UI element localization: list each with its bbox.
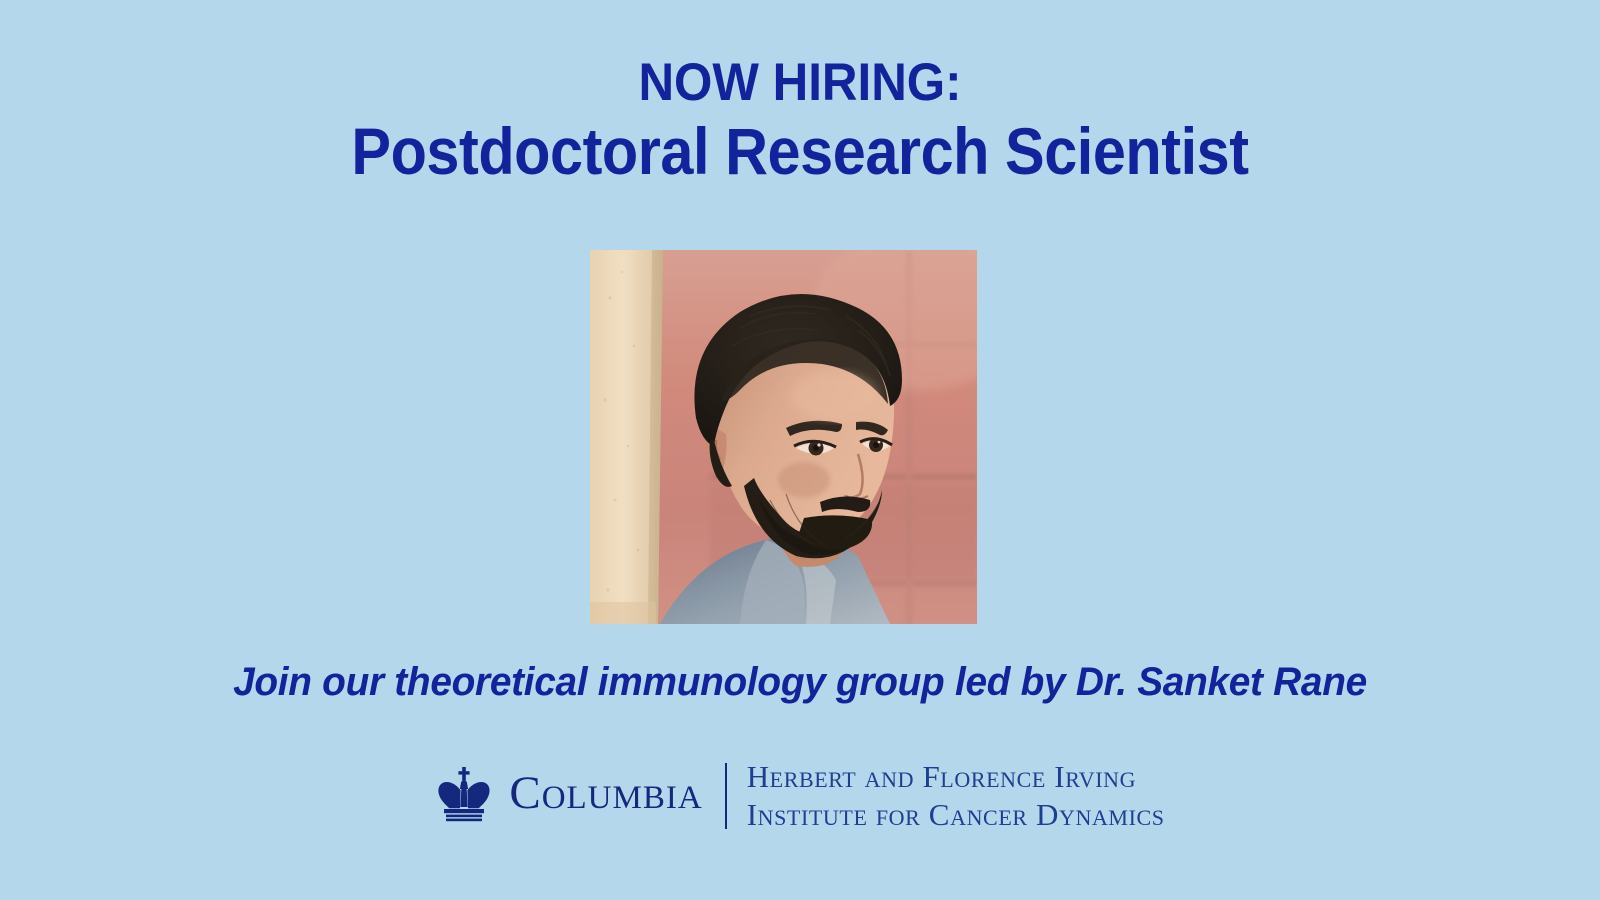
subtitle: Join our theoretical immunology group le… <box>24 660 1576 705</box>
institute-name-line-1: Herbert and Florence Irving <box>747 758 1165 796</box>
columbia-wordmark: Columbia <box>509 770 702 821</box>
portrait-photo-image <box>590 250 977 624</box>
headline-line-2: Postdoctoral Research Scientist <box>80 117 1520 187</box>
logo-divider <box>725 763 727 829</box>
portrait-photo <box>590 250 977 624</box>
columbia-crown-icon <box>435 765 493 827</box>
institute-name: Herbert and Florence Irving Institute fo… <box>747 758 1165 834</box>
page-title: NOW HIRING: Postdoctoral Research Scient… <box>0 55 1600 187</box>
job-posting-poster: NOW HIRING: Postdoctoral Research Scient… <box>0 0 1600 900</box>
headline-line-1: NOW HIRING: <box>56 55 1544 111</box>
institute-name-line-2: Institute for Cancer Dynamics <box>747 796 1165 834</box>
columbia-icd-logo: Columbia Herbert and Florence Irving Ins… <box>0 758 1600 834</box>
